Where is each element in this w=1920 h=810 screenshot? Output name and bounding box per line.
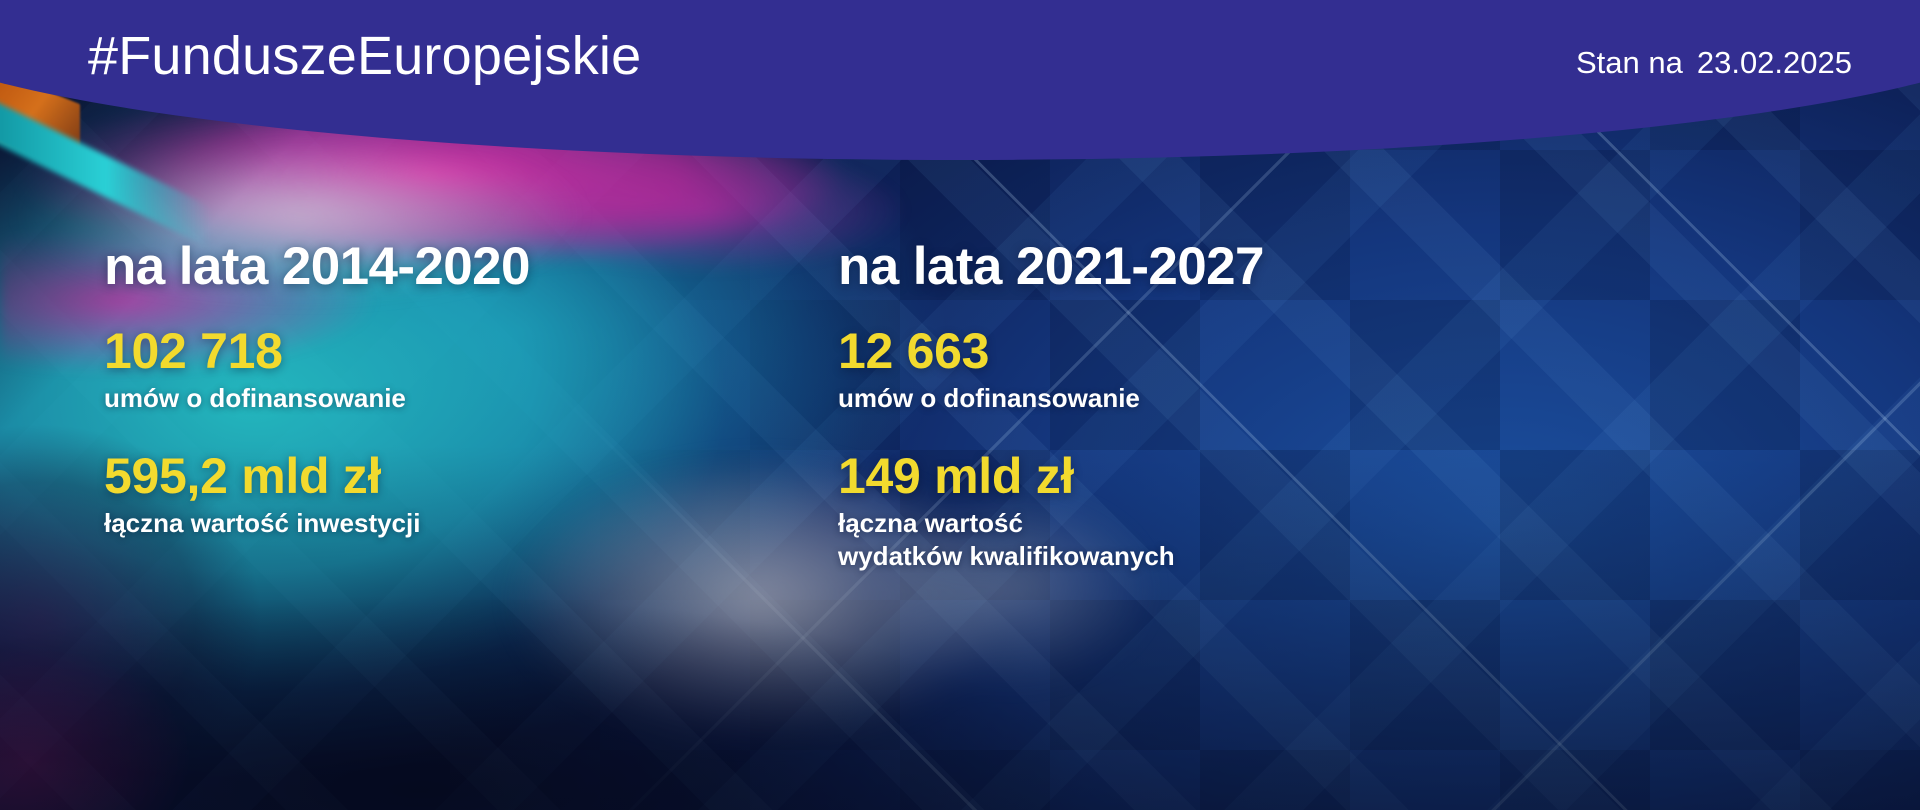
stat-label-line: łączna wartość inwestycji bbox=[104, 507, 420, 540]
column-heading: na lata 2014-2020 bbox=[104, 236, 530, 297]
stat-label: łączna wartość wydatków kwalifikowanych bbox=[838, 507, 1175, 574]
stat-value: 102 718 bbox=[104, 325, 406, 378]
stat-value: 595,2 mld zł bbox=[104, 450, 420, 503]
stat-value: 149 mld zł bbox=[838, 450, 1175, 503]
stats-columns: na lata 2014-2020 102 718 umów o dofinan… bbox=[0, 0, 1920, 810]
stat-label-line: łączna wartość bbox=[838, 507, 1175, 540]
stat-block-contracts-2021: 12 663 umów o dofinansowanie bbox=[838, 325, 1140, 415]
stat-label: umów o dofinansowanie bbox=[838, 382, 1140, 415]
stat-label: umów o dofinansowanie bbox=[104, 382, 406, 415]
stat-block-contracts-2014: 102 718 umów o dofinansowanie bbox=[104, 325, 406, 415]
infographic-poster: #FunduszeEuropejskie Stan na23.02.2025 n… bbox=[0, 0, 1920, 810]
stat-block-value-2021: 149 mld zł łączna wartość wydatków kwali… bbox=[838, 450, 1175, 573]
stat-label-line: umów o dofinansowanie bbox=[838, 382, 1140, 415]
stat-label-line: wydatków kwalifikowanych bbox=[838, 540, 1175, 573]
stat-label: łączna wartość inwestycji bbox=[104, 507, 420, 540]
column-heading: na lata 2021-2027 bbox=[838, 236, 1264, 297]
stat-value: 12 663 bbox=[838, 325, 1140, 378]
stat-block-value-2014: 595,2 mld zł łączna wartość inwestycji bbox=[104, 450, 420, 540]
stat-label-line: umów o dofinansowanie bbox=[104, 382, 406, 415]
